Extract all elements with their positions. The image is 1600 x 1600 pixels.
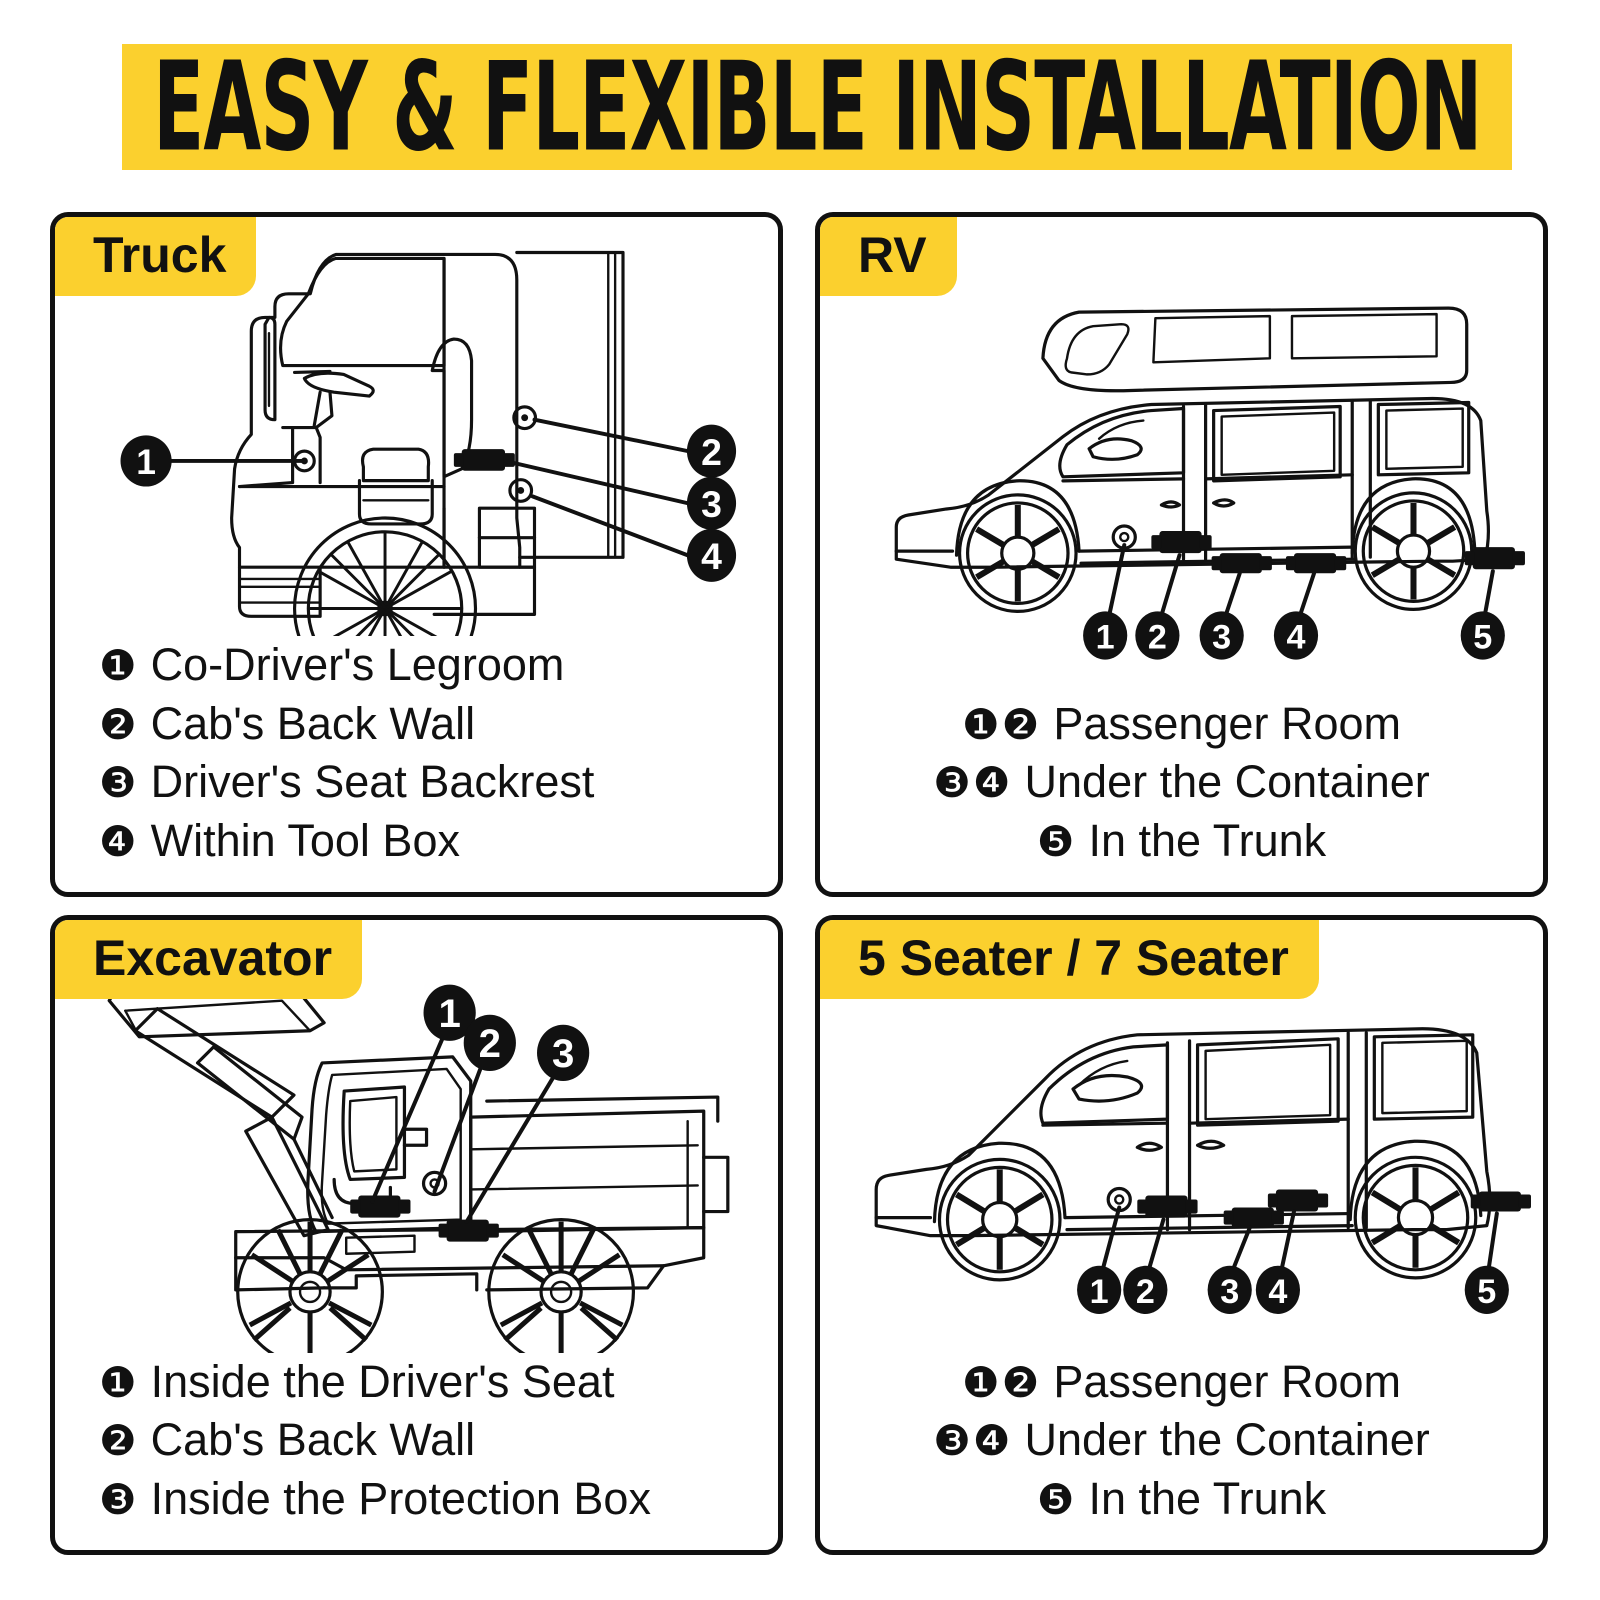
panel-badge-seater: 5 Seater / 7 Seater	[820, 920, 1319, 999]
callout-3: 3	[1200, 611, 1244, 659]
seater-front-wheel-icon	[939, 1159, 1060, 1280]
list-item: ❺ In the Trunk	[1037, 812, 1326, 871]
svg-text:1: 1	[136, 442, 156, 482]
svg-text:4: 4	[1268, 1273, 1287, 1311]
list-item-bullets: ❶	[99, 1356, 139, 1411]
header-banner: EASY & FLEXIBLE INSTALLATION	[122, 44, 1512, 170]
svg-text:1: 1	[438, 991, 460, 1036]
seater-rear-wheel-icon	[1355, 1157, 1476, 1278]
callout-3: 3	[687, 477, 736, 530]
list-item-label: Under the Container	[1025, 1411, 1430, 1470]
panel-grid: Truck	[50, 212, 1548, 1554]
svg-text:1: 1	[1090, 1273, 1109, 1311]
excavator-front-wheel-icon	[238, 1220, 383, 1353]
callout-3: 3	[537, 1025, 589, 1081]
callout-1: 1	[1077, 1266, 1121, 1314]
svg-text:5: 5	[1477, 1273, 1496, 1311]
list-item-label: Cab's Back Wall	[151, 1411, 476, 1470]
svg-text:5: 5	[1473, 619, 1492, 657]
svg-text:2: 2	[1148, 619, 1167, 657]
list-item-bullets: ❸	[99, 756, 139, 811]
panel-rv: RV	[815, 212, 1548, 897]
list-item-bullets: ❸❹	[933, 1414, 1012, 1469]
list-item-label: Passenger Room	[1053, 1353, 1401, 1412]
list-item-label: Cab's Back Wall	[151, 695, 476, 754]
list-item: ❸❹ Under the Container	[933, 1411, 1430, 1470]
list-item-bullets: ❶❷	[962, 1356, 1041, 1411]
installation-infographic: EASY & FLEXIBLE INSTALLATION Truck	[0, 0, 1600, 1600]
svg-text:1: 1	[1096, 619, 1115, 657]
list-item: ❸❹ Under the Container	[933, 753, 1430, 812]
svg-text:2: 2	[1136, 1273, 1155, 1311]
list-item: ❶❷ Passenger Room	[962, 1353, 1401, 1412]
callout-2: 2	[1123, 1266, 1167, 1314]
svg-text:3: 3	[1220, 1273, 1239, 1311]
list-item: ❶ Inside the Driver's Seat	[99, 1353, 614, 1412]
list-item-bullets: ❺	[1037, 1473, 1077, 1528]
callout-5: 5	[1465, 1266, 1509, 1314]
list-item-bullets: ❺	[1037, 815, 1077, 870]
device-marker-1	[350, 1195, 410, 1217]
seater-location-list: ❶❷ Passenger Room ❸❹ Under the Container…	[820, 1353, 1543, 1551]
list-item-bullets: ❶❷	[962, 698, 1041, 753]
list-item-bullets: ❸❹	[933, 756, 1012, 811]
list-item-label: Under the Container	[1025, 753, 1430, 812]
list-item: ❸ Inside the Protection Box	[99, 1470, 651, 1529]
svg-text:4: 4	[1286, 619, 1305, 657]
device-marker-3	[1212, 553, 1272, 573]
panel-badge-truck: Truck	[55, 217, 256, 296]
callout-1: 1	[1083, 611, 1127, 659]
list-item-bullets: ❷	[99, 698, 139, 753]
list-item: ❸ Driver's Seat Backrest	[99, 753, 594, 812]
device-marker-4	[1268, 1189, 1328, 1211]
svg-text:4: 4	[701, 535, 722, 577]
device-marker-4	[1286, 553, 1346, 573]
list-item: ❷ Cab's Back Wall	[99, 1411, 475, 1470]
list-item-label: Co-Driver's Legroom	[151, 636, 565, 695]
svg-text:3: 3	[552, 1031, 574, 1076]
callout-5: 5	[1461, 611, 1505, 659]
list-item-label: Within Tool Box	[151, 812, 460, 871]
callout-2: 2	[464, 1015, 516, 1071]
excavator-location-list: ❶ Inside the Driver's Seat ❷ Cab's Back …	[55, 1353, 778, 1551]
device-marker-3	[439, 1220, 499, 1242]
rv-rear-wheel-icon	[1355, 493, 1471, 609]
panel-badge-rv: RV	[820, 217, 957, 296]
device-marker-5	[1465, 547, 1525, 569]
list-item-label: Inside the Driver's Seat	[151, 1353, 615, 1412]
list-item-label: Driver's Seat Backrest	[151, 753, 595, 812]
list-item: ❶❷ Passenger Room	[962, 695, 1401, 754]
truck-location-list: ❶ Co-Driver's Legroom ❷ Cab's Back Wall …	[55, 636, 778, 892]
callout-1: 1	[121, 435, 172, 486]
panel-badge-excavator: Excavator	[55, 920, 362, 999]
page-title: EASY & FLEXIBLE INSTALLATION	[153, 46, 1482, 169]
list-item: ❺ In the Trunk	[1037, 1470, 1326, 1529]
svg-text:2: 2	[479, 1021, 501, 1066]
panel-seater: 5 Seater / 7 Seater	[815, 915, 1548, 1555]
svg-text:3: 3	[701, 483, 722, 525]
excavator-rear-wheel-icon	[489, 1220, 634, 1353]
list-item: ❷ Cab's Back Wall	[99, 695, 475, 754]
callout-4: 4	[1256, 1266, 1300, 1314]
list-item-bullets: ❸	[99, 1473, 139, 1528]
svg-text:3: 3	[1212, 619, 1231, 657]
list-item-label: Passenger Room	[1053, 695, 1401, 754]
rv-location-list: ❶❷ Passenger Room ❸❹ Under the Container…	[820, 695, 1543, 893]
callout-4: 4	[687, 529, 736, 582]
callout-4: 4	[1274, 611, 1318, 659]
svg-text:2: 2	[701, 431, 722, 473]
list-item-label: In the Trunk	[1089, 1470, 1327, 1529]
list-item-bullets: ❹	[99, 815, 139, 870]
panel-excavator: Excavator	[50, 915, 783, 1555]
device-marker-5	[1471, 1191, 1531, 1211]
callout-2: 2	[687, 425, 736, 478]
list-item-label: Inside the Protection Box	[151, 1470, 651, 1529]
callout-2: 2	[1135, 611, 1179, 659]
list-item: ❹ Within Tool Box	[99, 812, 460, 871]
list-item-bullets: ❶	[99, 639, 139, 694]
list-item-label: In the Trunk	[1089, 812, 1327, 871]
device-marker-3	[1224, 1208, 1284, 1228]
list-item: ❶ Co-Driver's Legroom	[99, 636, 564, 695]
list-item-bullets: ❷	[99, 1414, 139, 1469]
panel-truck: Truck	[50, 212, 783, 897]
rv-front-wheel-icon	[960, 495, 1076, 611]
callout-3: 3	[1208, 1266, 1252, 1314]
